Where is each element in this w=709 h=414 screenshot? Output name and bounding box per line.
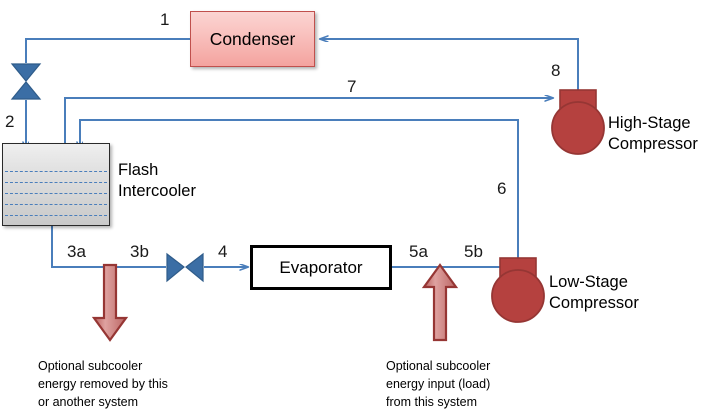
horizontal-expansion-valve-icon <box>167 254 203 281</box>
vertical-expansion-valve-icon <box>12 64 40 99</box>
liquid-level-line <box>5 171 107 172</box>
liquid-level-line <box>5 193 107 194</box>
state-point-4: 4 <box>218 243 227 260</box>
pipe-8-high-stage-to-condenser <box>320 39 578 92</box>
evaporator-label: Evaporator <box>279 258 362 278</box>
high-stage-compressor-label: High-Stage Compressor <box>608 113 698 155</box>
evaporator-component[interactable]: Evaporator <box>250 245 392 290</box>
state-point-5a: 5a <box>409 243 428 260</box>
liquid-level-line <box>5 215 107 216</box>
subcooler-energy-out-note: Optional subcooler energy removed by thi… <box>38 358 168 411</box>
subcooler-energy-in-note: Optional subcooler energy input (load) f… <box>386 358 490 411</box>
state-point-8: 8 <box>551 62 560 79</box>
state-point-3b: 3b <box>130 243 149 260</box>
state-point-6: 6 <box>497 180 506 197</box>
pipe-1-condenser-to-valve <box>26 39 190 63</box>
high-stage-compressor-icon <box>552 90 604 154</box>
condenser-label: Condenser <box>210 29 296 50</box>
refrigeration-cycle-diagram: Condenser Evaporator Flash Intercooler H… <box>0 0 709 414</box>
state-point-2: 2 <box>5 113 14 130</box>
flash-intercooler-label: Flash Intercooler <box>118 160 196 202</box>
state-point-1: 1 <box>160 11 169 28</box>
condenser-component[interactable]: Condenser <box>190 11 315 67</box>
liquid-level-line <box>5 204 107 205</box>
state-point-7: 7 <box>347 78 356 95</box>
state-point-3a: 3a <box>67 243 86 260</box>
low-stage-compressor-label: Low-Stage Compressor <box>549 272 639 314</box>
state-point-5b: 5b <box>464 243 483 260</box>
flash-intercooler-component[interactable] <box>2 143 110 226</box>
low-stage-compressor-icon <box>492 258 544 322</box>
subcooler-energy-out-arrow <box>94 265 126 340</box>
liquid-level-line <box>5 182 107 183</box>
subcooler-energy-in-arrow <box>424 265 456 340</box>
